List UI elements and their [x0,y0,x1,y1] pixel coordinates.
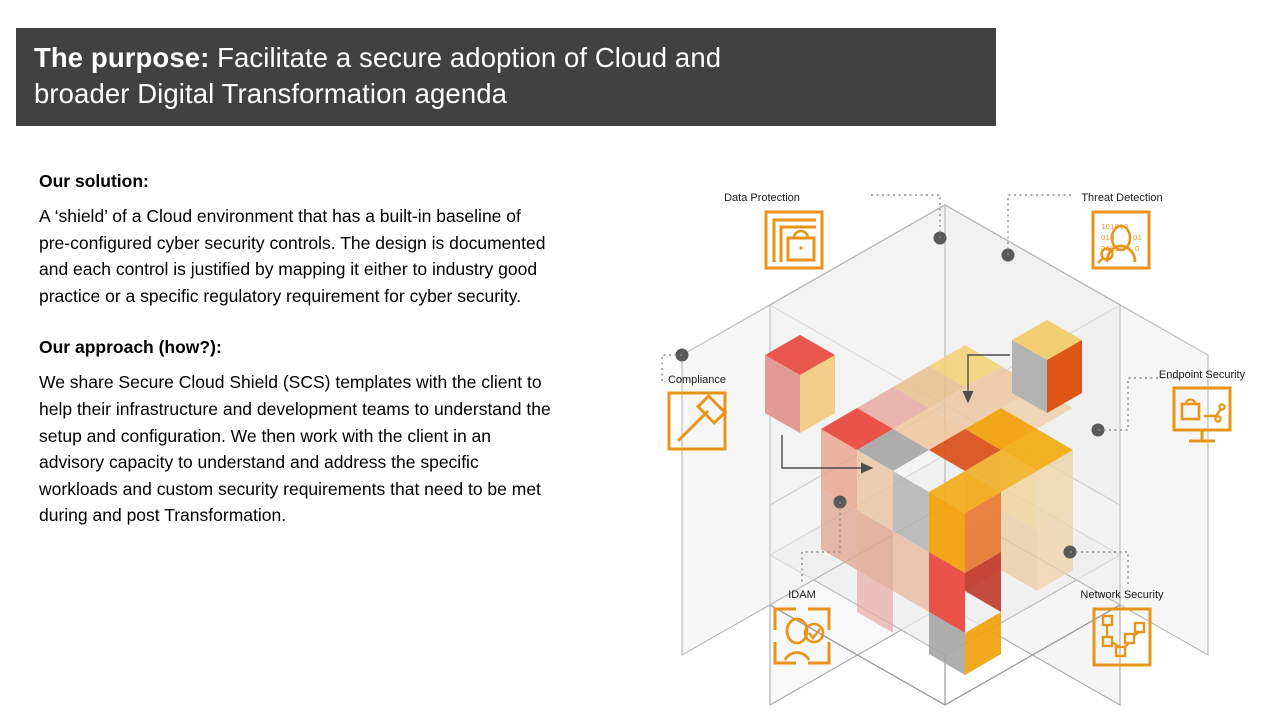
title-banner: The purpose: Facilitate a secure adoptio… [16,28,996,126]
title-line-2: broader Digital Transformation agenda [34,76,978,112]
label-threat-detection: Threat Detection [1081,192,1162,204]
label-compliance: Compliance [668,374,726,386]
approach-body: We share Secure Cloud Shield (SCS) templ… [39,369,551,529]
label-idam: IDAM [788,589,816,601]
title-line-1: The purpose: Facilitate a secure adoptio… [34,40,978,76]
svg-text:010: 010 [1101,233,1115,242]
binary-face-magnifier-icon: 101010 010 01 0101 0 [1093,212,1149,268]
documents-lock-icon [766,212,822,268]
svg-text:0: 0 [1135,244,1140,253]
secure-cloud-shield-diagram: Data Protection Threat Detection Complia… [620,150,1280,710]
solution-body: A ‘shield’ of a Cloud environment that h… [39,203,551,309]
left-text-column: Our solution: A ‘shield’ of a Cloud envi… [39,170,551,529]
approach-block: Our approach (how?): We share Secure Clo… [39,336,551,529]
label-network-security: Network Security [1080,589,1164,601]
label-endpoint-security: Endpoint Security [1159,369,1246,381]
label-data-protection: Data Protection [724,192,800,204]
svg-text:101010: 101010 [1101,222,1128,231]
svg-text:01: 01 [1133,233,1142,242]
approach-heading: Our approach (how?): [39,336,551,358]
title-rest: Facilitate a secure adoption of Cloud an… [209,42,721,73]
title-strong: The purpose: [34,42,209,73]
solution-heading: Our solution: [39,170,551,192]
left-callout-cube [765,335,835,433]
solution-block: Our solution: A ‘shield’ of a Cloud envi… [39,170,551,309]
